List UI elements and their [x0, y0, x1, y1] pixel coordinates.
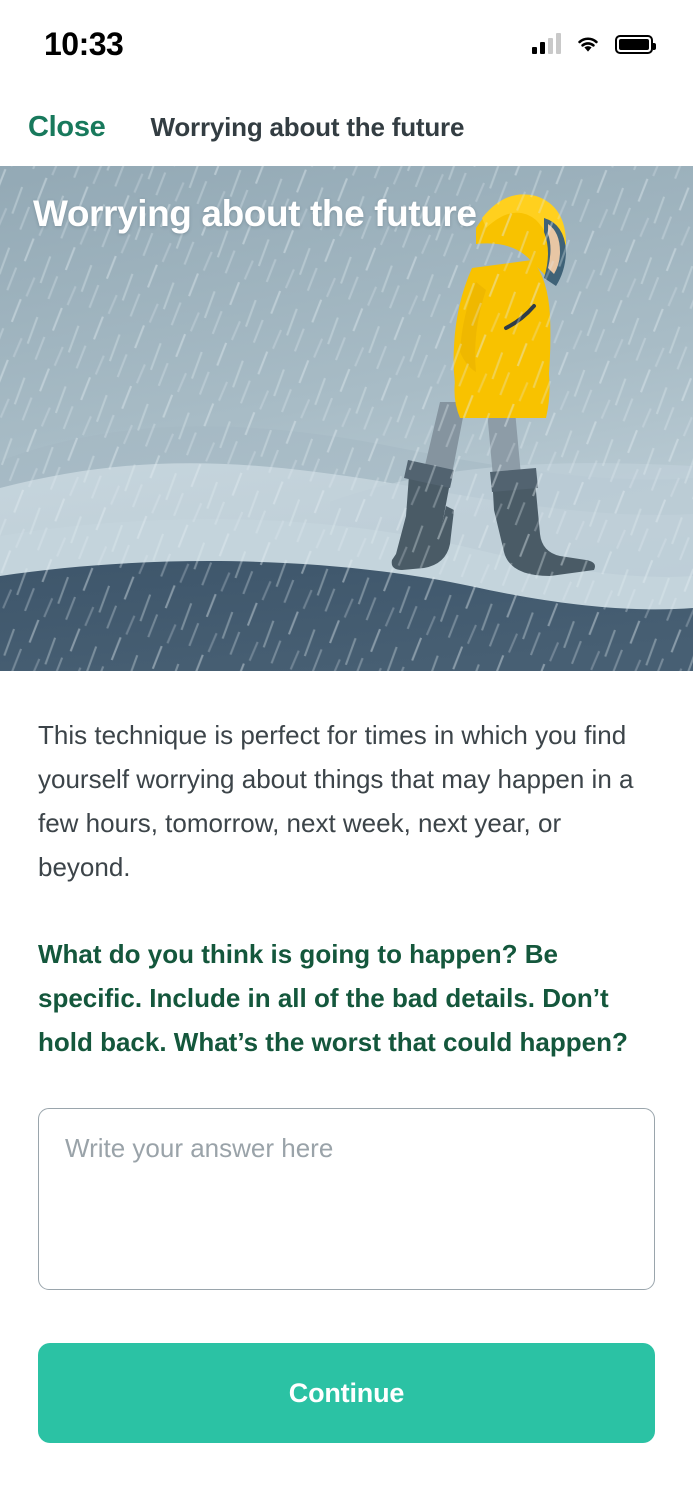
body-paragraph: This technique is perfect for times in w… [38, 713, 655, 889]
status-bar-indicators [532, 34, 653, 54]
wifi-icon [575, 34, 601, 54]
battery-full-icon [615, 35, 653, 54]
hero-title: Worrying about the future [33, 193, 477, 235]
page-title: Worrying about the future [150, 112, 464, 143]
rain-scene-graphic [0, 166, 693, 671]
navigation-bar: Close Worrying about the future [0, 88, 693, 166]
continue-button[interactable]: Continue [38, 1343, 655, 1443]
status-bar-clock: 10:33 [44, 26, 123, 63]
hero-illustration: Worrying about the future [0, 166, 693, 671]
app-screen: 10:33 Close Worrying about the future [0, 0, 693, 1500]
prompt-question: What do you think is going to happen? Be… [38, 932, 655, 1064]
content-area: This technique is perfect for times in w… [0, 713, 693, 1443]
status-bar: 10:33 [0, 0, 693, 88]
cellular-bars-icon [532, 34, 561, 54]
close-button[interactable]: Close [28, 111, 105, 144]
answer-input[interactable] [38, 1108, 655, 1290]
